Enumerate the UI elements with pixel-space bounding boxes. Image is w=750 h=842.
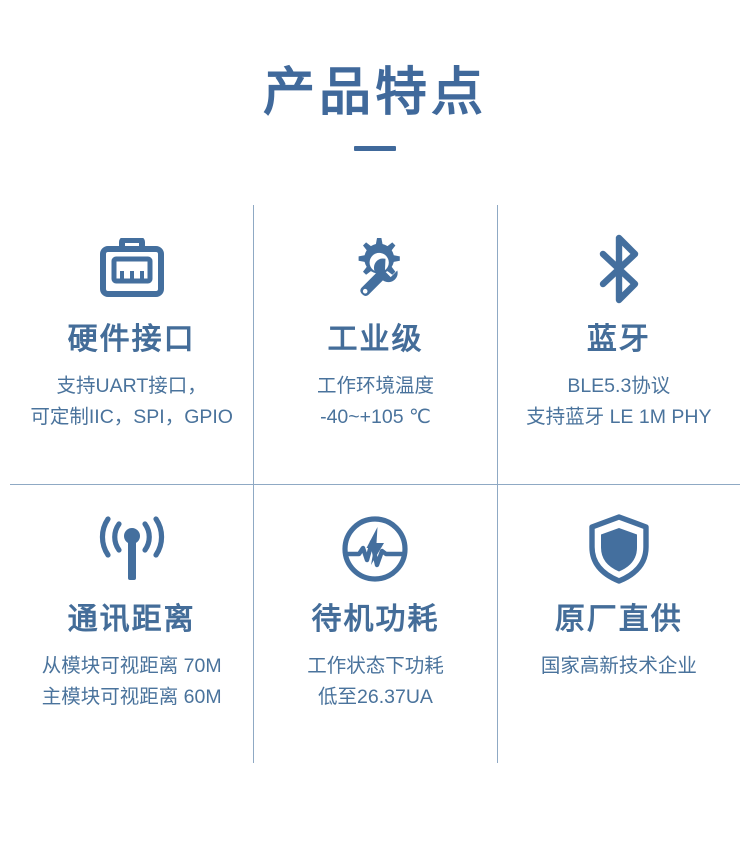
feature-description-line: 工作环境温度 [317,371,434,402]
feature-grid: 硬件接口 支持UART接口， 可定制IIC，SPI，GPIO 工业级 工作环境温… [10,205,740,763]
feature-description-line: BLE5.3协议 [526,371,711,402]
feature-description-line: 主模块可视距离 60M [42,682,222,713]
feature-description: 支持UART接口， 可定制IIC，SPI，GPIO [30,371,233,433]
title-divider [354,146,396,151]
bluetooth-icon [595,227,643,311]
power-waveform-icon [341,507,409,591]
feature-description-line: 支持蓝牙 LE 1M PHY [526,402,711,433]
page-header: 产品特点 [0,62,750,151]
feature-description-line: 国家高新技术企业 [541,651,697,682]
feature-title: 硬件接口 [68,321,196,359]
feature-description: 从模块可视距离 70M 主模块可视距离 60M [42,651,222,713]
feature-card-communication-range: 通讯距离 从模块可视距离 70M 主模块可视距离 60M [10,484,253,763]
feature-title: 原厂直供 [555,601,683,639]
feature-card-bluetooth: 蓝牙 BLE5.3协议 支持蓝牙 LE 1M PHY [497,205,740,484]
feature-description-line: 低至26.37UA [307,682,444,713]
feature-description-line: 工作状态下功耗 [307,651,444,682]
feature-title: 工业级 [327,321,423,359]
feature-description: 国家高新技术企业 [541,651,697,682]
feature-description: 工作环境温度 -40~+105 ℃ [317,371,434,433]
feature-description-line: 支持UART接口， [30,371,233,402]
feature-description-line: -40~+105 ℃ [317,402,434,433]
feature-card-standby-power: 待机功耗 工作状态下功耗 低至26.37UA [253,484,496,763]
page-title: 产品特点 [0,62,750,124]
feature-card-industrial-grade: 工业级 工作环境温度 -40~+105 ℃ [253,205,496,484]
feature-card-factory-direct: 原厂直供 国家高新技术企业 [497,484,740,763]
rj45-port-icon [99,227,165,311]
feature-description-line: 从模块可视距离 70M [42,651,222,682]
feature-description-line: 可定制IIC，SPI，GPIO [30,402,233,433]
gear-wrench-icon [341,227,409,311]
product-features-page: 产品特点 硬件接口 支持UART接口， 可定制IIC，SPI，GPIO [0,0,750,842]
feature-card-hardware-interface: 硬件接口 支持UART接口， 可定制IIC，SPI，GPIO [10,205,253,484]
feature-description: 工作状态下功耗 低至26.37UA [307,651,444,713]
feature-title: 蓝牙 [587,321,651,359]
feature-title: 通讯距离 [68,601,196,639]
shield-icon [588,507,650,591]
feature-description: BLE5.3协议 支持蓝牙 LE 1M PHY [526,371,711,433]
feature-title: 待机功耗 [311,601,439,639]
antenna-signal-icon [96,507,168,591]
